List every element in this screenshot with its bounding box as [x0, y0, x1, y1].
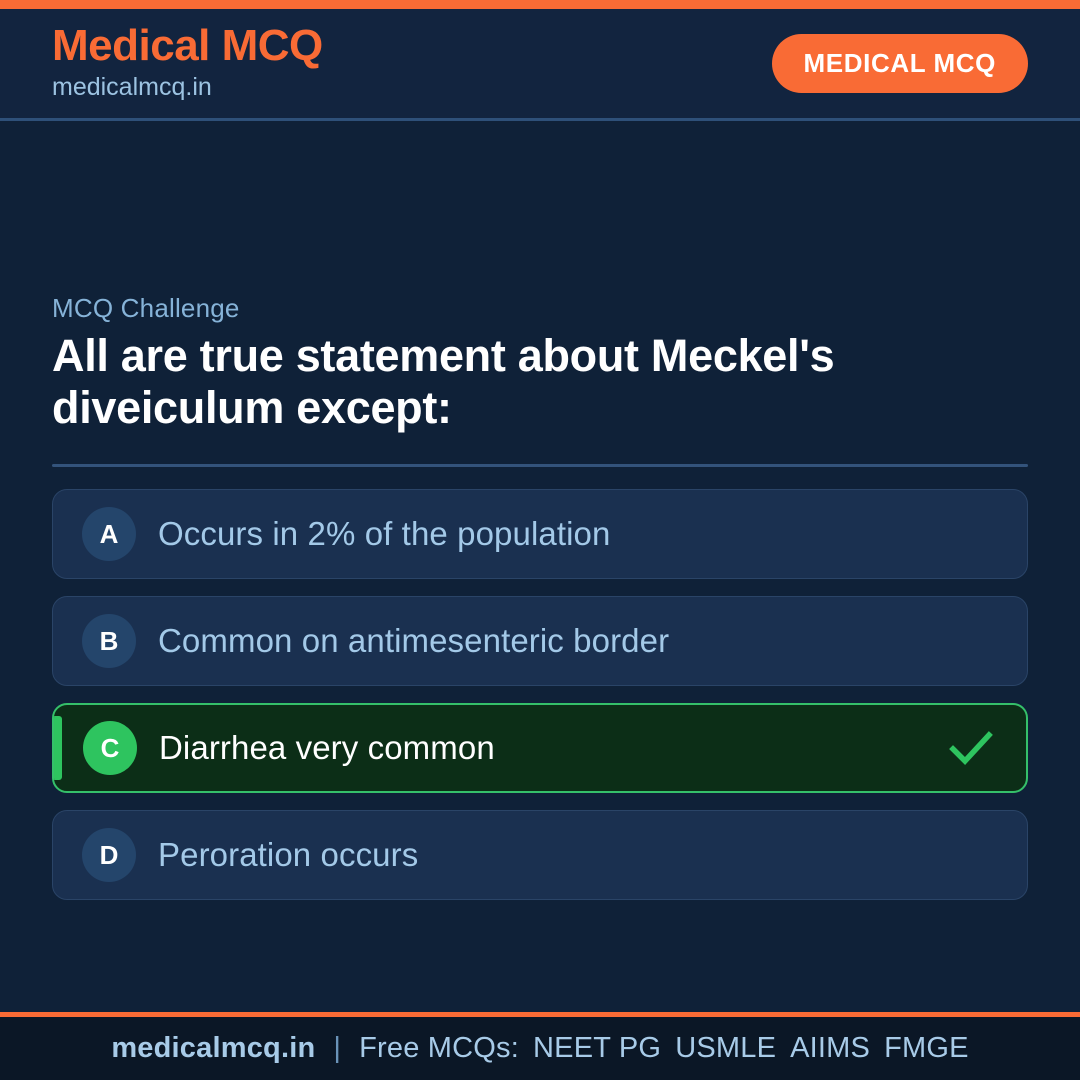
footer-site: medicalmcq.in [111, 1032, 315, 1065]
brand-title: Medical MCQ [52, 23, 323, 69]
option-d[interactable]: D Peroration occurs [52, 810, 1028, 900]
footer-exam-aiims: AIIMS [790, 1032, 870, 1065]
footer-exam-fmge: FMGE [884, 1032, 969, 1065]
correct-accent-bar [54, 716, 62, 780]
option-c-letter: C [83, 721, 137, 775]
mcq-card: Medical MCQ medicalmcq.in MEDICAL MCQ MC… [0, 0, 1080, 1080]
footer-exam-neet-pg: NEET PG [533, 1032, 661, 1065]
option-b[interactable]: B Common on antimesenteric border [52, 596, 1028, 686]
brand-block: Medical MCQ medicalmcq.in [52, 23, 323, 103]
footer-separator: | [329, 1032, 345, 1065]
question-eyebrow: MCQ Challenge [52, 293, 1028, 324]
question-text: All are true statement about Meckel's di… [52, 330, 982, 434]
question-block: MCQ Challenge All are true statement abo… [52, 293, 1028, 489]
option-d-text: Peroration occurs [158, 837, 418, 873]
option-c[interactable]: C Diarrhea very common [52, 703, 1028, 793]
page-footer: medicalmcq.in | Free MCQs: NEET PG USMLE… [0, 1012, 1080, 1080]
header-badge: MEDICAL MCQ [772, 34, 1028, 93]
footer-label: Free MCQs: [359, 1032, 519, 1065]
options-list: A Occurs in 2% of the population B Commo… [52, 489, 1028, 900]
option-d-letter: D [82, 828, 136, 882]
page-header: Medical MCQ medicalmcq.in MEDICAL MCQ [0, 9, 1080, 121]
content-area: MCQ Challenge All are true statement abo… [0, 121, 1080, 1012]
brand-website: medicalmcq.in [52, 71, 323, 104]
footer-content: medicalmcq.in | Free MCQs: NEET PG USMLE… [111, 1032, 968, 1065]
option-a-text: Occurs in 2% of the population [158, 516, 610, 552]
option-a-letter: A [82, 507, 136, 561]
top-accent-bar [0, 0, 1080, 9]
check-icon [948, 728, 994, 768]
option-b-letter: B [82, 614, 136, 668]
option-c-text: Diarrhea very common [159, 730, 495, 766]
option-a[interactable]: A Occurs in 2% of the population [52, 489, 1028, 579]
footer-exam-usmle: USMLE [675, 1032, 776, 1065]
option-b-text: Common on antimesenteric border [158, 623, 669, 659]
question-divider [52, 464, 1028, 467]
